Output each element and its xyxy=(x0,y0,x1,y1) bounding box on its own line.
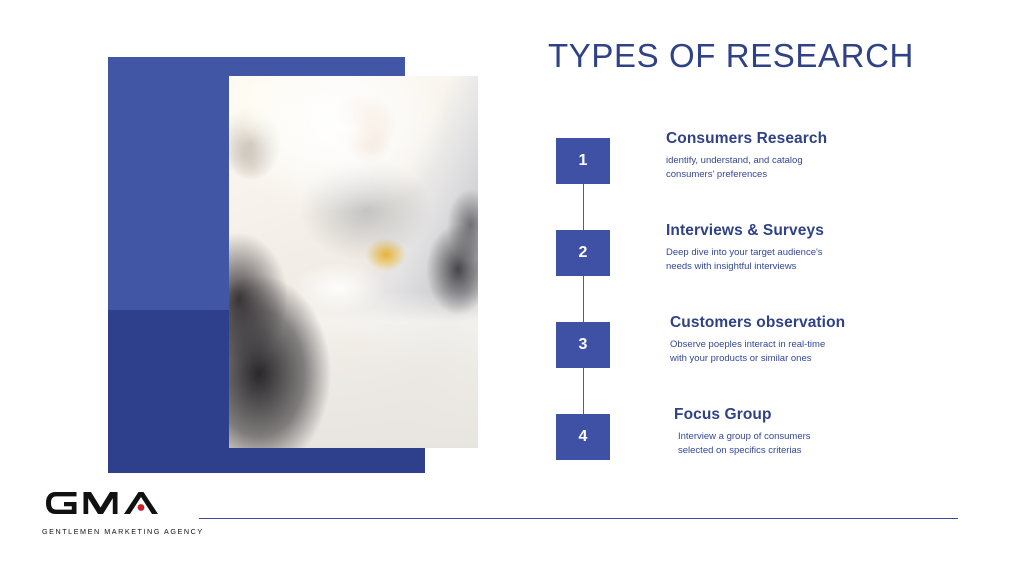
step-description: Deep dive into your target audience's ne… xyxy=(666,246,966,274)
step-connector-line xyxy=(583,184,584,230)
list-item[interactable]: 4 Focus Group Interview a group of consu… xyxy=(556,406,976,476)
step-title: Customers observation xyxy=(670,314,966,331)
slide-canvas: TYPES OF RESEARCH 1 Consumers Research i… xyxy=(0,0,1020,574)
research-types-list: 1 Consumers Research identify, understan… xyxy=(556,130,976,476)
list-item[interactable]: 1 Consumers Research identify, understan… xyxy=(556,130,976,222)
list-item[interactable]: 3 Customers observation Observe poeples … xyxy=(556,314,976,406)
step-body: Consumers Research identify, understand,… xyxy=(666,130,966,182)
photo-image xyxy=(229,76,478,448)
step-title: Consumers Research xyxy=(666,130,966,147)
list-item[interactable]: 2 Interviews & Surveys Deep dive into yo… xyxy=(556,222,976,314)
step-body: Customers observation Observe poeples in… xyxy=(666,314,966,366)
step-description: Interview a group of consumers selected … xyxy=(678,430,966,458)
logo-dot-icon xyxy=(138,504,145,511)
step-title: Interviews & Surveys xyxy=(666,222,966,239)
gma-logo: GENTLEMEN MARKETING AGENCY xyxy=(42,487,192,536)
footer-divider xyxy=(199,518,958,519)
gma-logo-tagline: GENTLEMEN MARKETING AGENCY xyxy=(42,527,192,536)
step-title: Focus Group xyxy=(674,406,966,423)
step-connector-line xyxy=(583,276,584,322)
step-number-badge: 1 xyxy=(556,138,610,184)
step-number-badge: 4 xyxy=(556,414,610,460)
page-title: TYPES OF RESEARCH xyxy=(548,37,914,75)
gma-logo-mark xyxy=(42,487,192,524)
step-description: identify, understand, and catalog consum… xyxy=(666,154,966,182)
step-number-badge: 2 xyxy=(556,230,610,276)
step-body: Interviews & Surveys Deep dive into your… xyxy=(666,222,966,274)
step-body: Focus Group Interview a group of consume… xyxy=(666,406,966,458)
step-description: Observe poeples interact in real-time wi… xyxy=(670,338,966,366)
step-connector-line xyxy=(583,368,584,414)
step-number-badge: 3 xyxy=(556,322,610,368)
office-meeting-photo xyxy=(229,76,478,448)
